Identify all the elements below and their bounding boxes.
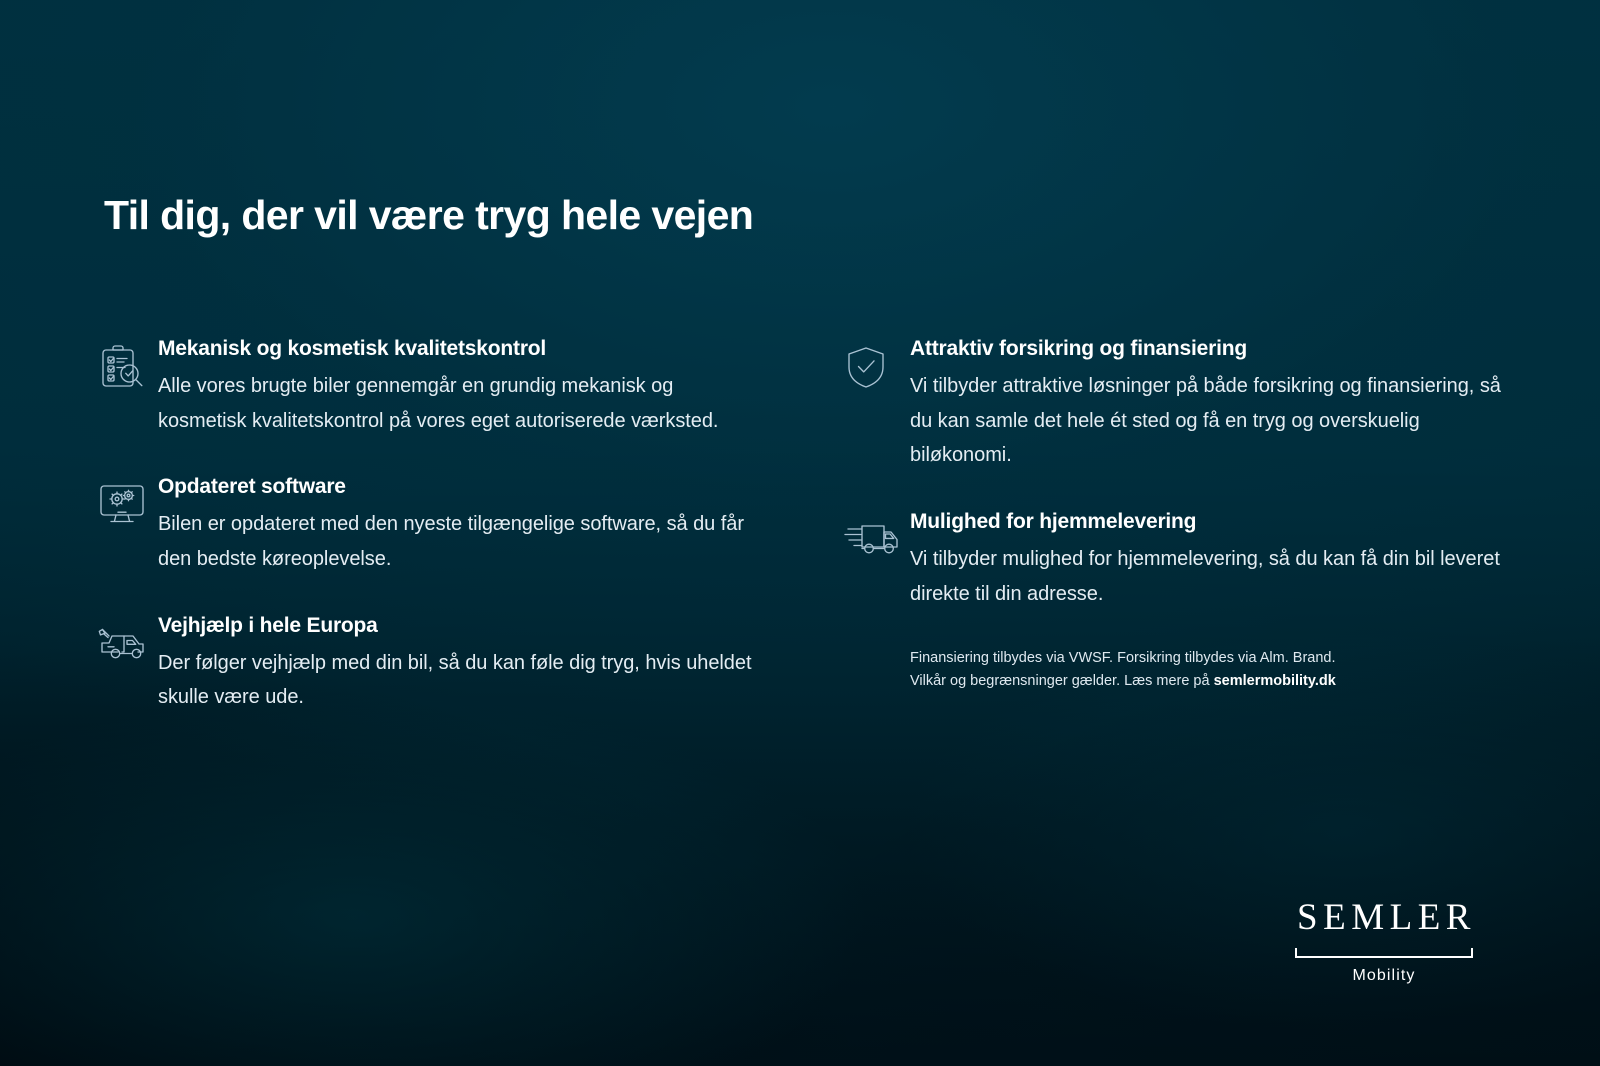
feature-description: Der følger vejhjælp med din bil, så du k… <box>158 646 756 715</box>
feature-description: Vi tilbyder attraktive løsninger på både… <box>910 369 1504 473</box>
feature-description: Alle vores brugte biler gennemgår en gru… <box>158 369 756 438</box>
delivery-van-icon <box>844 517 910 569</box>
logo-tick-right <box>1471 948 1473 958</box>
features-grid: Mekanisk og kosmetisk kvalitetskontrol A… <box>96 336 1516 715</box>
feature-title: Vejhjælp i hele Europa <box>158 614 756 637</box>
feature-title: Attraktiv forsikring og finansiering <box>910 337 1504 360</box>
feature-body: Vejhjælp i hele Europa Der følger vejhjæ… <box>158 613 756 715</box>
tow-truck-icon <box>96 619 158 671</box>
disclaimer-line-2: Vilkår og begrænsninger gælder. Læs mere… <box>910 670 1430 692</box>
logo-tick-left <box>1295 948 1297 958</box>
monitor-gears-icon <box>96 480 158 532</box>
page-title: Til dig, der vil være tryg hele vejen <box>104 192 753 239</box>
feature-item-insurance-financing: Attraktiv forsikring og finansiering Vi … <box>844 336 1504 473</box>
feature-description: Bilen er opdateret med den nyeste tilgæn… <box>158 507 756 576</box>
shield-check-icon <box>844 344 910 396</box>
logo-wordmark: SEMLER <box>1286 899 1482 936</box>
logo-divider-rule <box>1295 948 1473 959</box>
feature-body: Opdateret software Bilen er opdateret me… <box>158 474 756 576</box>
feature-title: Mulighed for hjemmelevering <box>910 510 1504 533</box>
disclaimer-line-2-text: Vilkår og begrænsninger gælder. Læs mere… <box>910 673 1214 689</box>
feature-item-quality-control: Mekanisk og kosmetisk kvalitetskontrol A… <box>96 336 756 438</box>
slide-root: Til dig, der vil være tryg hele vejen <box>0 0 1600 1066</box>
feature-item-software: Opdateret software Bilen er opdateret me… <box>96 474 756 576</box>
feature-body: Mekanisk og kosmetisk kvalitetskontrol A… <box>158 336 756 438</box>
feature-item-home-delivery: Mulighed for hjemmelevering Vi tilbyder … <box>844 509 1504 611</box>
feature-item-roadside-assistance: Vejhjælp i hele Europa Der følger vejhjæ… <box>96 613 756 715</box>
legal-disclaimer: Finansiering tilbydes via VWSF. Forsikri… <box>910 647 1430 692</box>
semler-mobility-logo: SEMLER Mobility <box>1286 899 1482 984</box>
feature-description: Vi tilbyder mulighed for hjemmelevering,… <box>910 542 1504 611</box>
feature-body: Mulighed for hjemmelevering Vi tilbyder … <box>910 509 1504 611</box>
logo-subtitle: Mobility <box>1286 968 1482 984</box>
feature-title: Opdateret software <box>158 475 756 498</box>
semlermobility-link[interactable]: semlermobility.dk <box>1214 673 1336 689</box>
feature-body: Attraktiv forsikring og finansiering Vi … <box>910 336 1504 473</box>
features-column-left: Mekanisk og kosmetisk kvalitetskontrol A… <box>96 336 756 715</box>
disclaimer-line-1: Finansiering tilbydes via VWSF. Forsikri… <box>910 647 1430 669</box>
feature-title: Mekanisk og kosmetisk kvalitetskontrol <box>158 337 756 360</box>
clipboard-check-magnifier-icon <box>96 342 158 394</box>
features-column-right: Attraktiv forsikring og finansiering Vi … <box>844 336 1504 715</box>
